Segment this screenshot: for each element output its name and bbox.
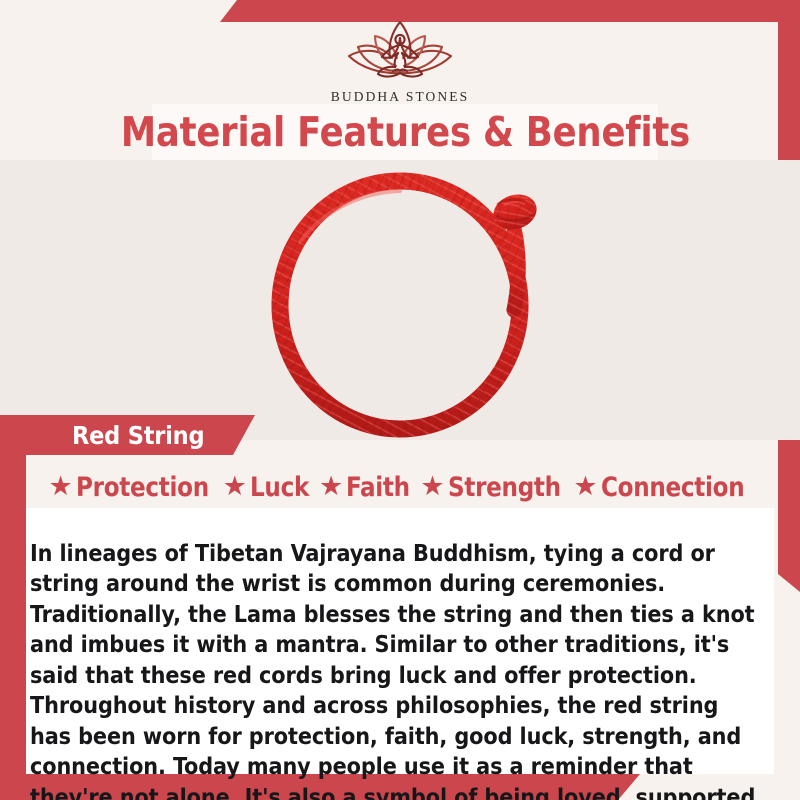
star-icon: ★ bbox=[319, 473, 343, 500]
lotus-meditation-icon bbox=[337, 14, 463, 87]
description-panel: In lineages of Tibetan Vajrayana Buddhis… bbox=[26, 508, 774, 774]
star-icon: ★ bbox=[223, 473, 247, 500]
benefit-item-connection: ★ Connection bbox=[573, 472, 751, 503]
description-body: In lineages of Tibetan Vajrayana Buddhis… bbox=[30, 538, 757, 800]
benefit-item-luck: ★ Luck bbox=[223, 472, 312, 503]
benefit-label: Strength bbox=[448, 472, 561, 503]
infographic-card: BUDDHA STONES Material Features & Benefi… bbox=[0, 0, 800, 800]
benefit-item-faith: ★ Faith bbox=[319, 472, 413, 503]
brand-logo: BUDDHA STONES bbox=[0, 14, 800, 105]
benefit-label: Connection bbox=[601, 472, 744, 503]
benefit-label: Protection bbox=[76, 472, 209, 503]
product-photo bbox=[0, 160, 800, 440]
page-title: Material Features & Benefits bbox=[120, 108, 689, 156]
material-name-label: Red String bbox=[72, 421, 204, 450]
benefits-list: ★ Protection ★ Luck ★ Faith ★ Strength ★… bbox=[0, 466, 800, 508]
title-banner: Material Features & Benefits bbox=[152, 104, 658, 160]
brand-name: BUDDHA STONES bbox=[331, 89, 469, 105]
material-name-banner: Red String bbox=[0, 415, 255, 455]
star-icon: ★ bbox=[573, 473, 597, 500]
benefit-label: Faith bbox=[346, 472, 410, 503]
benefit-item-protection: ★ Protection bbox=[49, 472, 216, 503]
star-icon: ★ bbox=[420, 473, 444, 500]
benefit-item-strength: ★ Strength bbox=[420, 472, 566, 503]
benefit-label: Luck bbox=[250, 472, 309, 503]
star-icon: ★ bbox=[49, 473, 73, 500]
